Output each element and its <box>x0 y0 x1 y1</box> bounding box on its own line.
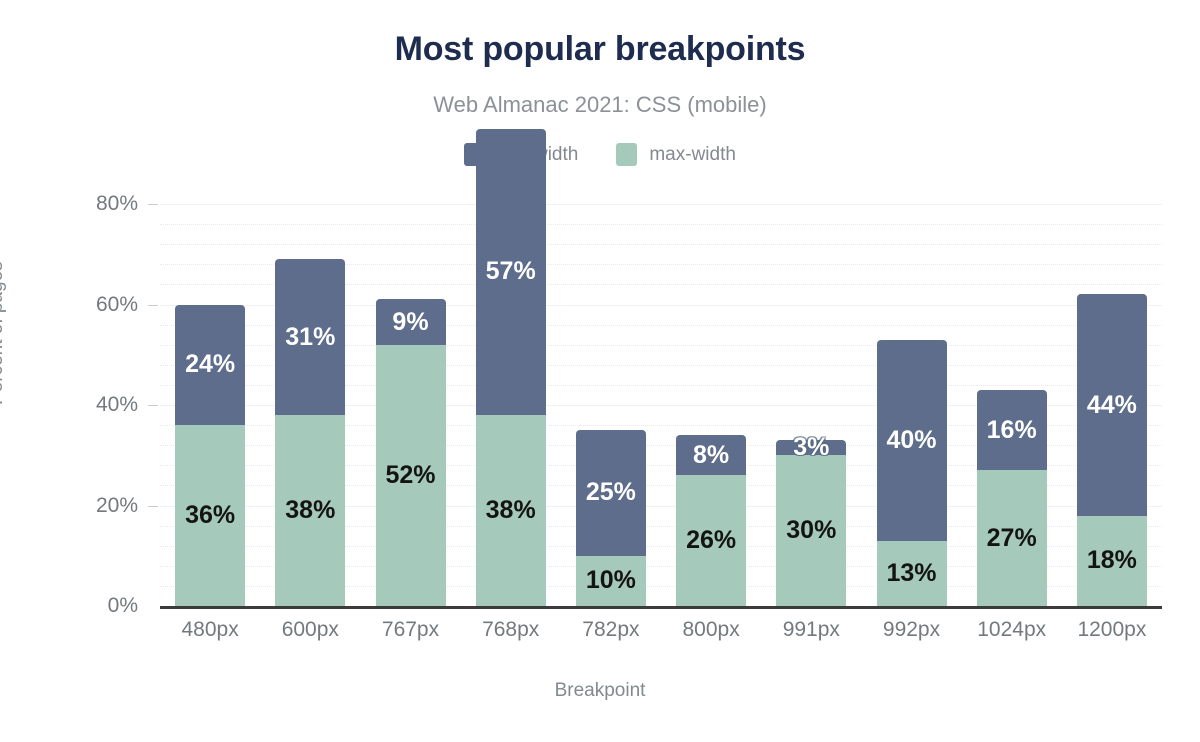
bar-value-label: 57% <box>486 259 536 284</box>
bar-value-label: 38% <box>486 498 536 523</box>
bar-segment-max-width[interactable]: 27% <box>977 470 1047 606</box>
plot-area: 36%24%38%31%52%9%38%57%10%25%26%8%30%3%1… <box>160 204 1162 606</box>
bar-group[interactable]: 27%16% <box>977 204 1047 606</box>
y-axis-tick-mark <box>148 305 158 306</box>
bar-segment-min-width[interactable]: 9% <box>376 299 446 344</box>
bar-value-label: 26% <box>686 528 736 553</box>
chart-title: Most popular breakpoints <box>0 30 1200 69</box>
bar-group[interactable]: 36%24% <box>175 204 245 606</box>
bar-group[interactable]: 38%57% <box>476 204 546 606</box>
bar-group[interactable]: 26%8% <box>676 204 746 606</box>
chart-subtitle: Web Almanac 2021: CSS (mobile) <box>0 92 1200 118</box>
bar-segment-min-width[interactable]: 16% <box>977 390 1047 470</box>
bar-value-label: 24% <box>185 352 235 377</box>
x-axis-title: Breakpoint <box>0 680 1200 702</box>
bar-group[interactable]: 10%25% <box>576 204 646 606</box>
bar-value-label: 25% <box>586 480 636 505</box>
bar-segment-max-width[interactable]: 36% <box>175 425 245 606</box>
bar-value-label: 31% <box>285 325 335 350</box>
bar-value-label: 18% <box>1087 548 1137 573</box>
bar-group[interactable]: 18%44% <box>1077 204 1147 606</box>
bar-value-label: 9% <box>392 310 428 335</box>
y-axis-tick-label: 40% <box>76 393 138 417</box>
bar-segment-max-width[interactable]: 52% <box>376 345 446 606</box>
bar-value-label: 10% <box>586 568 636 593</box>
chart-legend: min-widthmax-width <box>0 143 1200 166</box>
bar-value-label: 27% <box>987 526 1037 551</box>
bar-value-label: 13% <box>886 561 936 586</box>
bar-segment-max-width[interactable]: 10% <box>576 556 646 606</box>
y-axis-tick-label: 60% <box>76 293 138 317</box>
bar-value-label: 16% <box>987 418 1037 443</box>
bar-segment-min-width[interactable]: 40% <box>877 340 947 541</box>
bar-segment-min-width[interactable]: 25% <box>576 430 646 556</box>
y-axis-tick-label: 0% <box>76 594 138 618</box>
legend-swatch-max-width <box>616 143 637 166</box>
y-axis-title: Percent of pages <box>0 261 8 405</box>
bar-segment-min-width[interactable]: 44% <box>1077 294 1147 515</box>
y-axis-tick-mark <box>148 506 158 507</box>
bar-segment-max-width[interactable]: 38% <box>275 415 345 606</box>
bar-group[interactable]: 38%31% <box>275 204 345 606</box>
bar-group[interactable]: 52%9% <box>376 204 446 606</box>
bar-group[interactable]: 13%40% <box>877 204 947 606</box>
bar-segment-max-width[interactable]: 18% <box>1077 516 1147 606</box>
bar-segment-max-width[interactable]: 30% <box>776 455 846 606</box>
bar-value-label: 8% <box>693 443 729 468</box>
bar-segment-min-width[interactable]: 57% <box>476 129 546 415</box>
x-axis-baseline <box>160 606 1162 609</box>
bar-value-label: 3% <box>793 435 829 460</box>
bar-segment-min-width[interactable]: 8% <box>676 435 746 475</box>
legend-label: max-width <box>649 144 736 166</box>
chart-container: Most popular breakpoints Web Almanac 202… <box>0 0 1200 742</box>
bar-value-label: 52% <box>385 463 435 488</box>
legend-item-max-width[interactable]: max-width <box>616 143 736 166</box>
bar-value-label: 30% <box>786 518 836 543</box>
bar-group[interactable]: 30%3% <box>776 204 846 606</box>
bar-segment-min-width[interactable]: 31% <box>275 259 345 415</box>
bar-value-label: 44% <box>1087 393 1137 418</box>
bar-segment-max-width[interactable]: 26% <box>676 475 746 606</box>
bar-segment-min-width[interactable]: 3% <box>776 440 846 455</box>
bar-segment-max-width[interactable]: 13% <box>877 541 947 606</box>
bar-value-label: 40% <box>886 428 936 453</box>
y-axis-tick-mark <box>148 405 158 406</box>
bar-segment-max-width[interactable]: 38% <box>476 415 546 606</box>
bar-value-label: 38% <box>285 498 335 523</box>
x-axis-tick-label[interactable]: 1200px <box>1052 618 1172 642</box>
bar-segment-min-width[interactable]: 24% <box>175 305 245 426</box>
y-axis-tick-label: 20% <box>76 494 138 518</box>
y-axis-tick-label: 80% <box>76 192 138 216</box>
bar-value-label: 36% <box>185 503 235 528</box>
y-axis-tick-mark <box>148 204 158 205</box>
